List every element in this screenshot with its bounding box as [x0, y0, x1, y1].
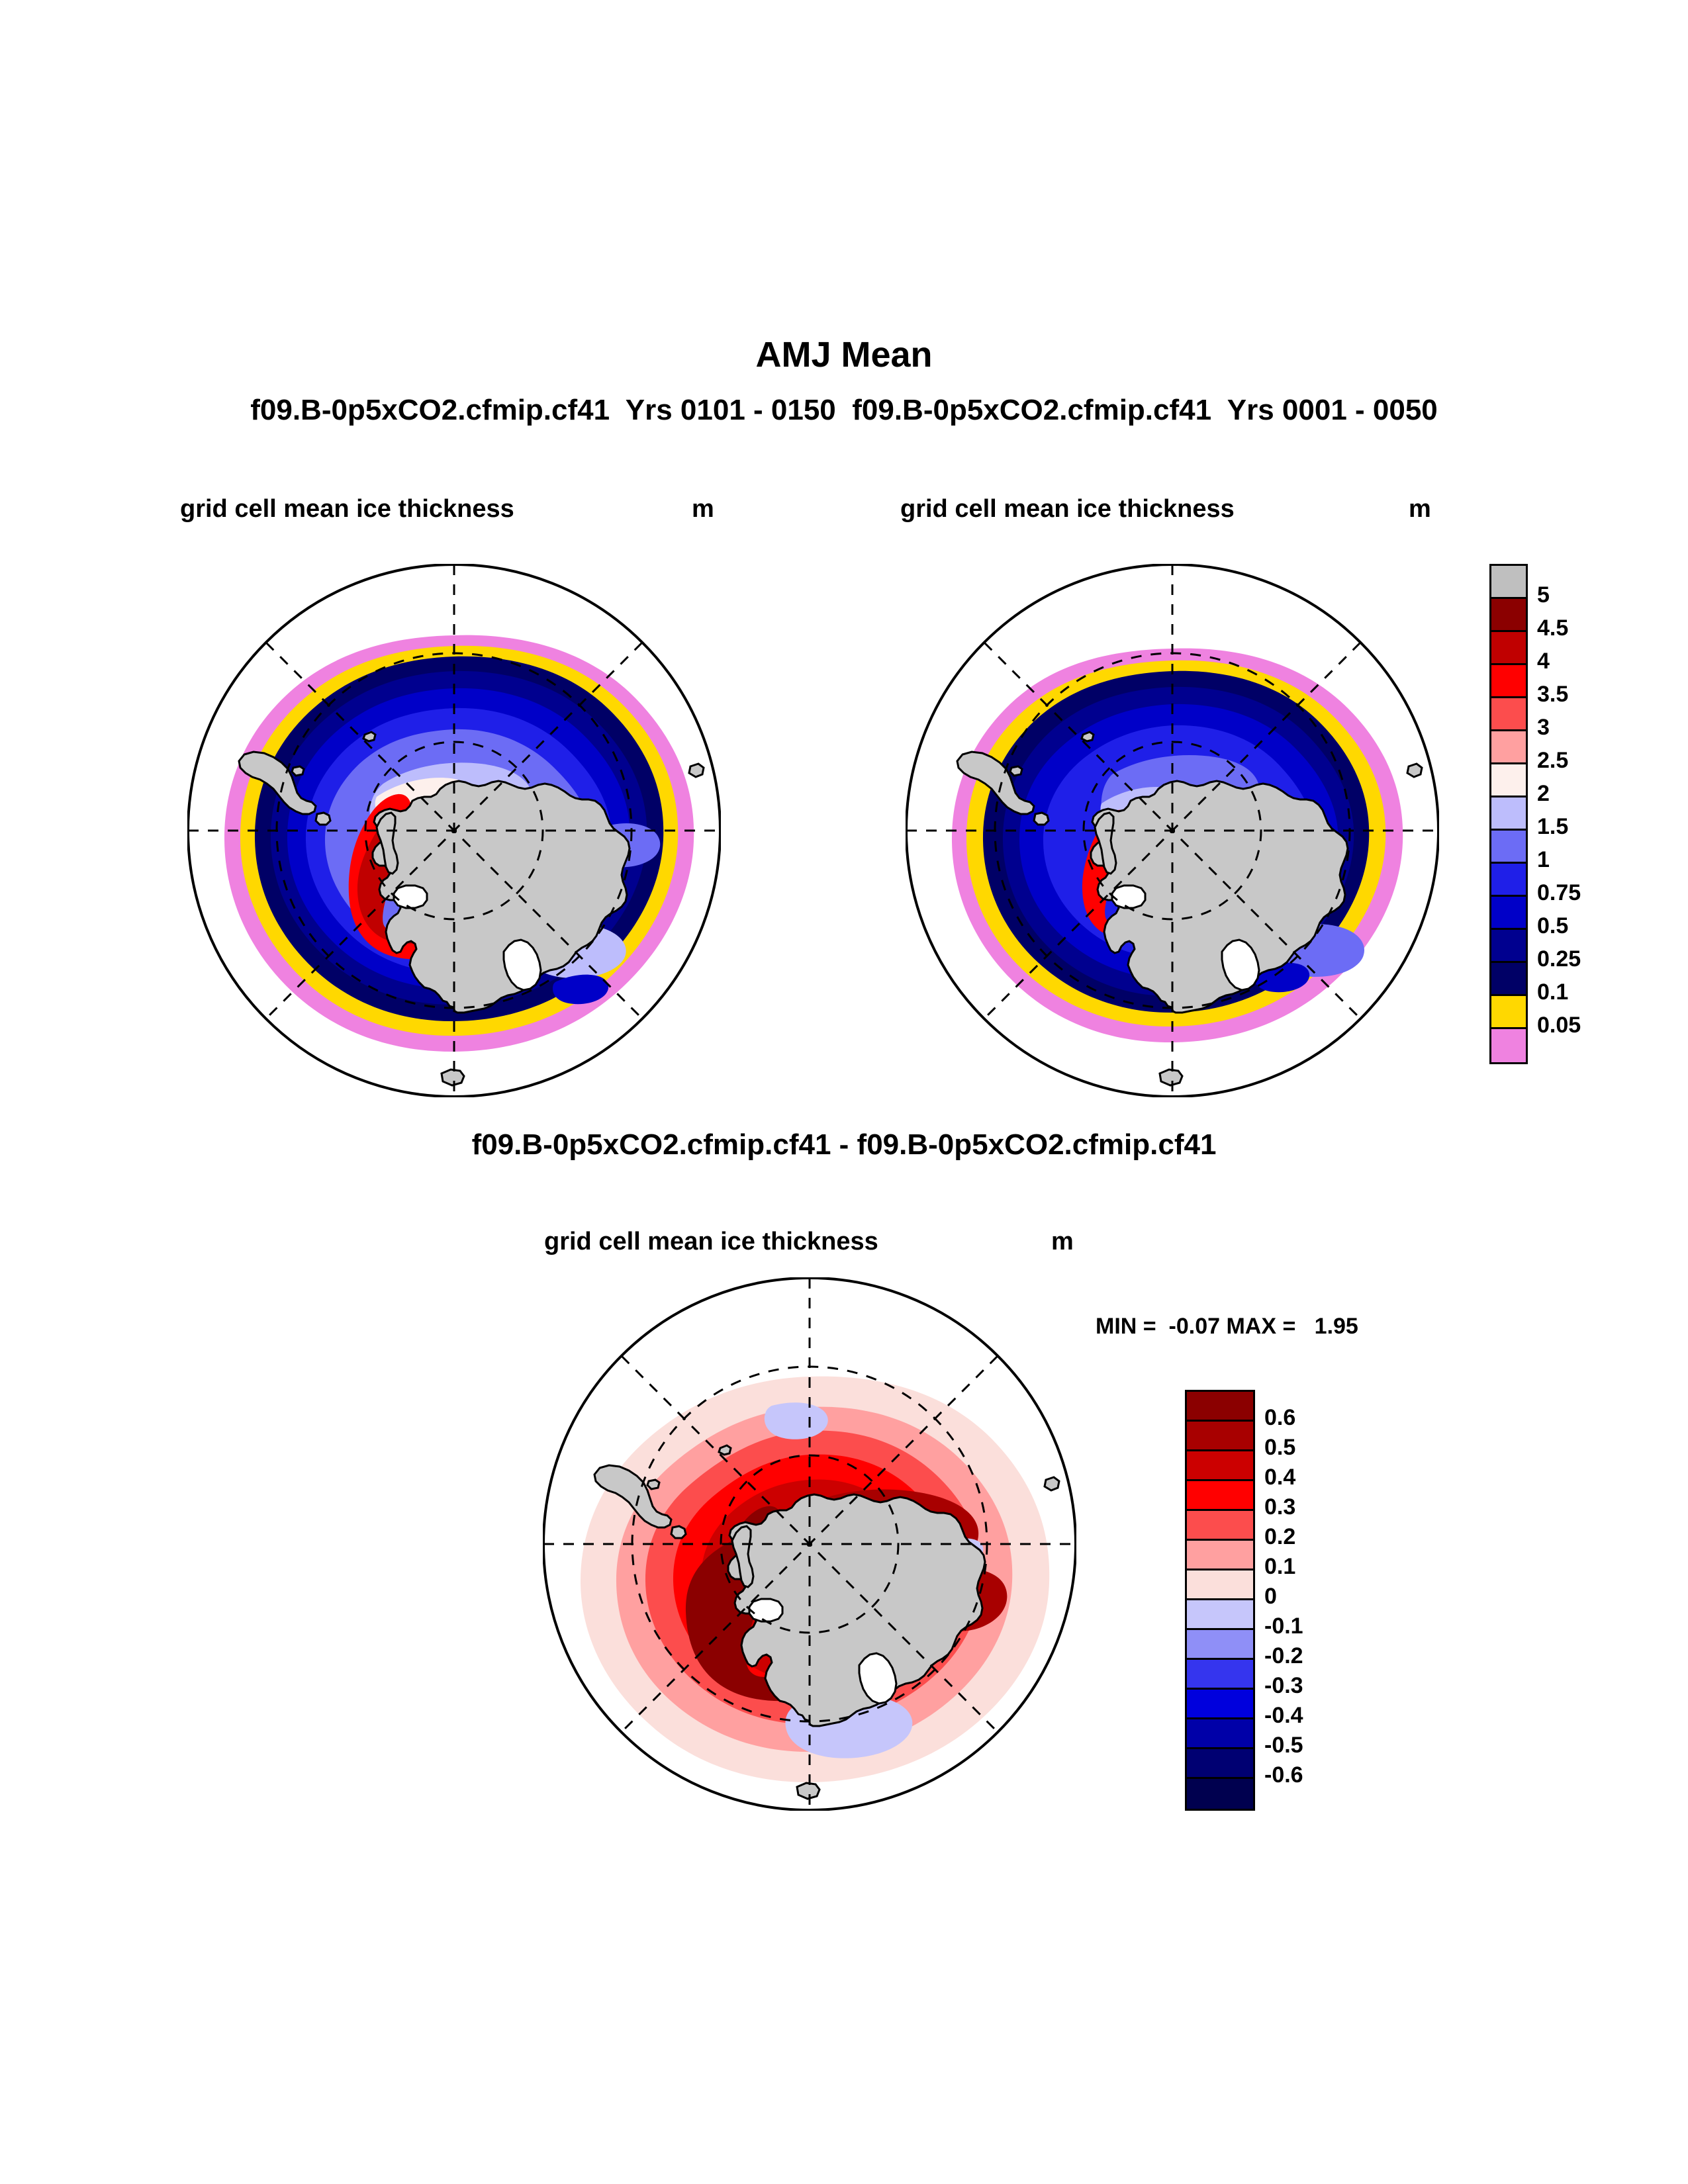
difference-colorbar-tick-12: -0.6 — [1264, 1762, 1303, 1788]
island-small-east — [1045, 1477, 1059, 1490]
ronne-ice-shelf — [1112, 886, 1145, 908]
ronne-ice-shelf — [749, 1599, 782, 1621]
right-polar-map — [906, 564, 1439, 1097]
left-polar-map — [187, 564, 721, 1097]
min-max-annotation: MIN = -0.07 MAX = 1.95 — [1096, 1314, 1358, 1340]
main-colorbar-tick-1: 4.5 — [1537, 615, 1568, 641]
main-colorbar-segment-3[interactable] — [1491, 665, 1526, 698]
difference-colorbar-segment-8[interactable] — [1187, 1630, 1253, 1660]
main-colorbar-tick-7: 1.5 — [1537, 814, 1568, 840]
island-small-west — [1010, 766, 1022, 776]
difference-colorbar-segment-13[interactable] — [1187, 1779, 1253, 1809]
difference-colorbar-tick-2: 0.4 — [1264, 1465, 1295, 1490]
main-colorbar-segment-12[interactable] — [1491, 963, 1526, 996]
difference-colorbar-tick-5: 0.1 — [1264, 1554, 1295, 1580]
main-colorbar-tick-10: 0.5 — [1537, 913, 1568, 939]
difference-colorbar-tick-9: -0.3 — [1264, 1673, 1303, 1699]
island-small-south — [442, 1069, 464, 1085]
left-panel-units: m — [692, 495, 714, 523]
difference-colorbar-segment-7[interactable] — [1187, 1600, 1253, 1630]
difference-colorbar-segment-5[interactable] — [1187, 1541, 1253, 1570]
right-panel-caption: grid cell mean ice thickness — [900, 495, 1235, 523]
difference-colorbar-tick-11: -0.5 — [1264, 1733, 1303, 1758]
difference-title: f09.B-0p5xCO2.cfmip.cf41 - f09.B-0p5xCO2… — [0, 1128, 1688, 1161]
difference-colorbar-segment-6[interactable] — [1187, 1570, 1253, 1600]
island-small-west — [292, 766, 304, 776]
main-colorbar-segment-1[interactable] — [1491, 599, 1526, 632]
difference-colorbar-segment-2[interactable] — [1187, 1451, 1253, 1481]
difference-colorbar-segment-11[interactable] — [1187, 1719, 1253, 1749]
main-colorbar-segment-2[interactable] — [1491, 632, 1526, 665]
main-colorbar-tick-2: 4 — [1537, 649, 1550, 674]
right-panel-units: m — [1409, 495, 1431, 523]
island-small-west — [647, 1480, 659, 1489]
difference-colorbar-segment-9[interactable] — [1187, 1660, 1253, 1690]
main-colorbar-segment-9[interactable] — [1491, 864, 1526, 897]
difference-colorbar-tick-3: 0.3 — [1264, 1494, 1295, 1520]
figure-subtitle: f09.B-0p5xCO2.cfmip.cf41 Yrs 0101 - 0150… — [0, 394, 1688, 427]
island-small-east — [1407, 764, 1422, 777]
main-colorbar-tick-3: 3.5 — [1537, 682, 1568, 707]
main-colorbar-segment-0[interactable] — [1491, 566, 1526, 599]
main-colorbar-segment-5[interactable] — [1491, 731, 1526, 764]
difference-colorbar-tick-1: 0.5 — [1264, 1435, 1295, 1461]
difference-colorbar-segment-3[interactable] — [1187, 1481, 1253, 1511]
main-colorbar-segment-13[interactable] — [1491, 996, 1526, 1029]
falkland-islands — [671, 1526, 686, 1538]
main-colorbar-tick-5: 2.5 — [1537, 748, 1568, 774]
falkland-islands — [316, 813, 330, 825]
main-colorbar-segment-14[interactable] — [1491, 1029, 1526, 1062]
main-colorbar-tick-8: 1 — [1537, 847, 1550, 873]
main-colorbar[interactable] — [1489, 564, 1528, 1064]
difference-colorbar-tick-8: -0.2 — [1264, 1643, 1303, 1669]
difference-colorbar-tick-0: 0.6 — [1264, 1405, 1295, 1431]
difference-colorbar-tick-6: 0 — [1264, 1584, 1277, 1610]
difference-colorbar-segment-12[interactable] — [1187, 1749, 1253, 1779]
left-panel-caption: grid cell mean ice thickness — [180, 495, 514, 523]
difference-panel-caption: grid cell mean ice thickness — [544, 1228, 878, 1256]
main-colorbar-tick-13: 0.05 — [1537, 1013, 1581, 1038]
main-colorbar-tick-4: 3 — [1537, 715, 1550, 741]
main-colorbar-segment-11[interactable] — [1491, 930, 1526, 963]
main-colorbar-segment-4[interactable] — [1491, 698, 1526, 731]
ronne-ice-shelf — [394, 886, 427, 908]
difference-colorbar-tick-4: 0.2 — [1264, 1524, 1295, 1550]
main-colorbar-tick-12: 0.1 — [1537, 979, 1568, 1005]
difference-colorbar-tick-7: -0.1 — [1264, 1614, 1303, 1639]
island-small-south — [1160, 1069, 1182, 1085]
falkland-islands — [1034, 813, 1049, 825]
main-colorbar-tick-0: 5 — [1537, 582, 1550, 608]
main-title: AMJ Mean — [0, 334, 1688, 375]
main-colorbar-segment-6[interactable] — [1491, 764, 1526, 797]
main-colorbar-segment-8[interactable] — [1491, 831, 1526, 864]
main-colorbar-tick-9: 0.75 — [1537, 880, 1581, 906]
difference-colorbar-segment-0[interactable] — [1187, 1392, 1253, 1422]
island-small-east — [689, 764, 704, 777]
difference-panel-units: m — [1051, 1228, 1074, 1256]
difference-polar-map — [543, 1277, 1076, 1811]
difference-colorbar-segment-10[interactable] — [1187, 1690, 1253, 1719]
difference-colorbar-tick-10: -0.4 — [1264, 1703, 1303, 1729]
main-colorbar-tick-11: 0.25 — [1537, 946, 1581, 972]
main-colorbar-segment-7[interactable] — [1491, 797, 1526, 831]
difference-colorbar[interactable] — [1185, 1390, 1255, 1811]
difference-colorbar-segment-1[interactable] — [1187, 1422, 1253, 1451]
island-small-south — [797, 1783, 820, 1799]
difference-colorbar-segment-4[interactable] — [1187, 1511, 1253, 1541]
main-colorbar-tick-6: 2 — [1537, 781, 1550, 807]
main-colorbar-segment-10[interactable] — [1491, 897, 1526, 930]
